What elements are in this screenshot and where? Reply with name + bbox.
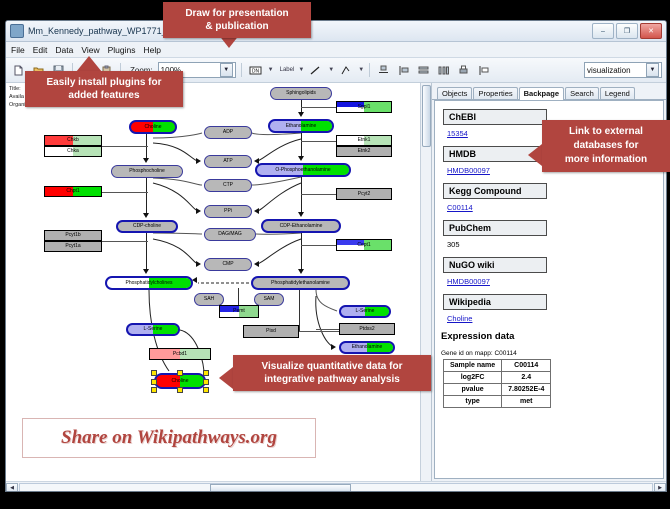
- node-label: Cept1: [357, 243, 370, 248]
- edge-cdpcholine-to-pc: [146, 233, 147, 270]
- node-label: L-Serine: [144, 327, 163, 332]
- gene-chkb[interactable]: Chkb: [44, 135, 102, 146]
- metabolite-l-serine-right[interactable]: L-Serine: [339, 305, 391, 318]
- scroll-left-button[interactable]: ◀: [6, 483, 18, 493]
- visualization-select[interactable]: visualization ▼: [584, 62, 662, 78]
- callout-visualize-arrow: [219, 367, 233, 389]
- cell-value: met: [502, 396, 551, 408]
- cell-value: 7.80252E-4: [502, 384, 551, 396]
- callout-plugins: Easily install plugins for added feature…: [25, 71, 183, 107]
- metabolite-ethanolamine-right[interactable]: Ethanolamine: [339, 341, 395, 354]
- canvas-horizontal-scrollbar[interactable]: ◀ ▶: [6, 481, 666, 492]
- gene-pcyt1a[interactable]: Pcyt1a: [44, 241, 102, 252]
- node-label: Pisd: [266, 329, 276, 334]
- cell-key: pvalue: [444, 384, 502, 396]
- edge-chpt1-connector: [102, 192, 148, 193]
- chevron-down-icon[interactable]: ▼: [220, 63, 233, 77]
- metabolite-ctp[interactable]: CTP: [204, 179, 252, 192]
- scroll-track[interactable]: [19, 483, 653, 493]
- handle-nw[interactable]: [151, 370, 157, 376]
- chevron-down-icon[interactable]: ▼: [328, 67, 334, 73]
- gene-cept1[interactable]: Cept1: [336, 239, 392, 251]
- edge-pcyt2-connector: [301, 194, 337, 195]
- edge-etnk-connector: [301, 141, 337, 142]
- arrow-down-icon: [298, 269, 304, 274]
- cell-key: log2FC: [444, 372, 502, 384]
- node-label: SAM: [264, 297, 275, 302]
- menu-edit[interactable]: Edit: [33, 45, 48, 55]
- window-controls: – ❐ ✕: [592, 23, 662, 39]
- distribute-icon[interactable]: [435, 62, 452, 79]
- metabolite-ethanolamine[interactable]: Ethanolamine: [268, 119, 334, 133]
- arrow-right-icon: [196, 208, 201, 214]
- node-label: Choline: [172, 379, 189, 384]
- document-info: Title: Availa Organi: [9, 85, 26, 109]
- edge-phosphocholine-to-cdpcholine: [146, 178, 147, 213]
- edge-cept1-connector: [301, 245, 337, 246]
- interaction-tool-icon[interactable]: [337, 62, 354, 79]
- callout-plugins-line2: added features: [33, 89, 175, 102]
- datanode-tool-icon[interactable]: DN: [247, 62, 264, 79]
- tab-objects[interactable]: Objects: [437, 87, 472, 100]
- gene-pcyt2[interactable]: Pcyt2: [336, 188, 392, 200]
- chevron-down-icon[interactable]: ▼: [358, 67, 364, 73]
- callout-draw-line2: & publication: [171, 20, 303, 33]
- edge-pisd-stub: [299, 331, 343, 332]
- arrow-right-icon: [331, 344, 336, 350]
- toolbar-separator: [369, 63, 370, 77]
- node-label: CTP: [223, 183, 233, 188]
- canvas-vertical-scrollbar[interactable]: [420, 83, 431, 481]
- doc-organism-label: Organi: [9, 101, 26, 109]
- db-name-chebi: ChEBI: [443, 109, 547, 125]
- expression-data-heading: Expression data: [441, 331, 663, 342]
- gene-etnk1[interactable]: Etnk1: [336, 135, 392, 146]
- db-section-wikipedia: Wikipedia Choline: [443, 292, 663, 323]
- arrow-down-icon: [143, 213, 149, 218]
- node-label: Ethanolamine: [286, 124, 317, 129]
- node-label: Pcyt2: [358, 192, 371, 197]
- visualization-value: visualization: [587, 66, 646, 75]
- node-label: ATP: [223, 159, 232, 164]
- edge-ethanolamine-to-ope: [301, 133, 302, 157]
- node-label: Chka: [67, 149, 79, 154]
- label-tool-label[interactable]: Label: [280, 67, 295, 73]
- gene-pcyt1b[interactable]: Pcyt1b: [44, 230, 102, 241]
- cell-value: 2.4: [502, 372, 551, 384]
- metabolite-dagmag[interactable]: DAG/MAG: [204, 228, 256, 241]
- align-left-icon[interactable]: [395, 62, 412, 79]
- callout-draw: Draw for presentation & publication: [163, 2, 311, 38]
- screenshot-root: Mm_Kennedy_pathway_WP1771_45176.gpml – ❐…: [0, 0, 670, 509]
- handle-sw[interactable]: [151, 387, 157, 393]
- handle-se[interactable]: [203, 387, 209, 393]
- tab-search[interactable]: Search: [565, 87, 599, 100]
- node-label: CMP: [222, 262, 233, 267]
- tab-backpage[interactable]: Backpage: [519, 87, 564, 101]
- node-label: Phosphocholine: [129, 169, 165, 174]
- db-link-nugo[interactable]: HMDB00097: [447, 277, 663, 286]
- doc-title-label: Title:: [9, 85, 26, 93]
- menu-help[interactable]: Help: [144, 45, 161, 55]
- node-label: CDP-choline: [133, 224, 161, 229]
- metabolite-l-serine-left[interactable]: L-Serine: [126, 323, 180, 336]
- node-label: Chkb: [67, 138, 79, 143]
- node-label: Phosphatidylcholines: [126, 281, 173, 286]
- tab-properties[interactable]: Properties: [473, 87, 517, 100]
- callout-visualize: Visualize quantitative data for integrat…: [233, 355, 431, 391]
- cell-key: type: [444, 396, 502, 408]
- callout-share-text: Share on Wikipathways.org: [61, 427, 277, 449]
- arrow-down-icon: [298, 112, 304, 117]
- node-label: L-Serine: [356, 309, 375, 314]
- gene-ptdss2[interactable]: Ptdss2: [339, 323, 395, 335]
- handle-w[interactable]: [151, 379, 157, 385]
- cell-key: Sample name: [444, 360, 502, 372]
- toolbar-separator: [241, 63, 242, 77]
- handle-s[interactable]: [177, 387, 183, 393]
- metabolite-choline-top[interactable]: Choline: [129, 120, 177, 134]
- edge-ptdss2-connector: [316, 329, 340, 330]
- handle-e[interactable]: [203, 379, 209, 385]
- order-icon[interactable]: [475, 62, 492, 79]
- table-row: Sample name C00114: [444, 360, 551, 372]
- node-label: Ethanolamine: [352, 345, 383, 350]
- metabolite-atp[interactable]: ATP: [204, 155, 252, 168]
- edge-pcyt-connector: [102, 241, 148, 242]
- callout-share: Share on Wikipathways.org: [22, 418, 316, 458]
- scroll-right-button[interactable]: ▶: [654, 483, 666, 493]
- close-button[interactable]: ✕: [640, 23, 662, 39]
- node-label: Sphingolipids: [286, 91, 316, 96]
- edge-cdpeth-to-pe: [301, 233, 302, 270]
- callout-external-line2: databases for: [550, 139, 662, 153]
- gene-sgpl1[interactable]: Sgpl1: [336, 101, 392, 113]
- callout-external-databases: Link to external databases for more info…: [542, 120, 670, 172]
- arrow-down-icon: [298, 212, 304, 217]
- table-row: type met: [444, 396, 551, 408]
- handle-n[interactable]: [177, 370, 183, 376]
- metabolite-cdp-choline[interactable]: CDP-choline: [116, 220, 178, 233]
- arrow-right-icon: [196, 261, 201, 267]
- side-panel-tabs: Objects Properties Backpage Search Legen…: [432, 83, 666, 100]
- metabolite-phosphatidylethanolamine[interactable]: Phosphatidylethanolamine: [251, 276, 350, 290]
- callout-external-arrow: [528, 144, 542, 166]
- edge-chk-connector: [102, 146, 148, 147]
- handle-ne[interactable]: [203, 370, 209, 376]
- db-name-pubchem: PubChem: [443, 220, 547, 236]
- gene-chpt1[interactable]: Chpt1: [44, 186, 102, 197]
- node-label: O-Phosphoethanolamine: [275, 168, 330, 173]
- callout-external-line1: Link to external: [550, 125, 662, 139]
- gene-pisd[interactable]: Pisd: [243, 325, 299, 338]
- db-section-nugo: NuGO wiki HMDB00097: [443, 255, 663, 286]
- metabolite-phosphatidylcholines[interactable]: Phosphatidylcholines: [105, 276, 193, 290]
- edge-ope-to-cdpethanolamine: [301, 177, 302, 213]
- callout-visualize-line1: Visualize quantitative data for: [241, 360, 423, 373]
- gene-chka[interactable]: Chka: [44, 146, 102, 157]
- title-bar: Mm_Kennedy_pathway_WP1771_45176.gpml – ❐…: [6, 21, 666, 42]
- metabolite-adp[interactable]: ADP: [204, 126, 252, 139]
- scrollbar-thumb[interactable]: [422, 85, 431, 147]
- doc-availability-label: Availa: [9, 93, 26, 101]
- menu-view[interactable]: View: [81, 45, 99, 55]
- metabolite-o-phosphoethanolamine[interactable]: O-Phosphoethanolamine: [255, 163, 351, 177]
- align-center-icon[interactable]: [375, 62, 392, 79]
- menu-plugins[interactable]: Plugins: [108, 45, 136, 55]
- expression-table: Sample name C00114 log2FC 2.4 pvalue 7.8…: [443, 359, 551, 408]
- arrow-down-icon: [143, 269, 149, 274]
- node-label: Choline: [145, 125, 162, 130]
- gene-etnk2[interactable]: Etnk2: [336, 146, 392, 157]
- db-section-pubchem: PubChem 305: [443, 218, 663, 249]
- arrow-down-icon: [143, 158, 149, 163]
- callout-plugins-arrow: [76, 56, 102, 72]
- metabolite-sphingolipids[interactable]: Sphingolipids: [270, 87, 332, 100]
- cell-value: C00114: [502, 360, 551, 372]
- node-label: Pemt: [233, 309, 245, 314]
- db-name-kegg: Kegg Compound: [443, 183, 547, 199]
- scrollbar-thumb[interactable]: [210, 484, 351, 493]
- callout-plugins-line1: Easily install plugins for: [33, 76, 175, 89]
- table-row: pvalue 7.80252E-4: [444, 384, 551, 396]
- arrow-left-icon: [254, 208, 259, 214]
- edge-sgpl1-connector: [301, 107, 337, 108]
- node-label: Pcyt1b: [65, 233, 80, 238]
- callout-external-line3: more information: [550, 153, 662, 167]
- node-label: Sgpl1: [358, 105, 371, 110]
- chevron-down-icon[interactable]: ▼: [646, 63, 659, 77]
- edge-pisd-connector: [299, 288, 300, 332]
- node-label: ADP: [223, 130, 233, 135]
- metabolite-cmp[interactable]: CMP: [204, 258, 252, 271]
- stack-icon[interactable]: [415, 62, 432, 79]
- db-link-wikipedia[interactable]: Choline: [447, 314, 663, 323]
- chevron-down-icon[interactable]: ▼: [268, 67, 274, 73]
- app-icon: [10, 24, 24, 38]
- node-label: Pcyt1a: [65, 244, 80, 249]
- arrow-down-icon: [298, 156, 304, 161]
- db-name-wikipedia: Wikipedia: [443, 294, 547, 310]
- line-tool-icon[interactable]: [307, 62, 324, 79]
- gene-id-on-mapp: Gene id on mapp: C00114: [441, 350, 663, 357]
- minimize-button[interactable]: –: [592, 23, 614, 39]
- metabolite-phosphocholine[interactable]: Phosphocholine: [111, 165, 183, 178]
- arrow-left-icon: [254, 261, 259, 267]
- db-section-kegg: Kegg Compound C00114: [443, 181, 663, 212]
- node-label: PPi: [224, 209, 232, 214]
- node-label: Etnk1: [358, 138, 371, 143]
- node-label: Etnk2: [358, 149, 371, 154]
- menu-data[interactable]: Data: [55, 45, 73, 55]
- maximize-button[interactable]: ❐: [616, 23, 638, 39]
- arrow-right-icon: [196, 158, 201, 164]
- metabolite-cdp-ethanolamine[interactable]: CDP-Ethanolamine: [261, 219, 341, 233]
- tab-legend[interactable]: Legend: [600, 87, 635, 100]
- metabolite-ppi[interactable]: PPi: [204, 205, 252, 218]
- node-label: DAG/MAG: [218, 232, 242, 237]
- node-label: CDP-Ethanolamine: [280, 224, 323, 229]
- node-label: SAH: [204, 297, 214, 302]
- db-link-kegg[interactable]: C00114: [447, 203, 663, 212]
- db-name-nugo: NuGO wiki: [443, 257, 547, 273]
- db-value-pubchem: 305: [447, 240, 663, 249]
- node-label: Phosphatidylethanolamine: [271, 281, 330, 286]
- menu-bar: File Edit Data View Plugins Help: [6, 42, 666, 58]
- menu-file[interactable]: File: [11, 45, 25, 55]
- callout-draw-line1: Draw for presentation: [171, 7, 303, 20]
- edge-pemt-connector: [238, 288, 239, 306]
- node-label: Ptdss2: [359, 327, 374, 332]
- gene-pcbd1[interactable]: Pcbd1: [149, 348, 211, 360]
- chevron-down-icon[interactable]: ▼: [298, 67, 304, 73]
- table-row: log2FC 2.4: [444, 372, 551, 384]
- node-label: Chpt1: [66, 189, 79, 194]
- svg-text:DN: DN: [252, 68, 260, 74]
- node-label: Pcbd1: [173, 352, 187, 357]
- gene-pemt[interactable]: Pemt: [219, 305, 259, 318]
- print-icon[interactable]: [455, 62, 472, 79]
- callout-visualize-line2: integrative pathway analysis: [241, 373, 423, 386]
